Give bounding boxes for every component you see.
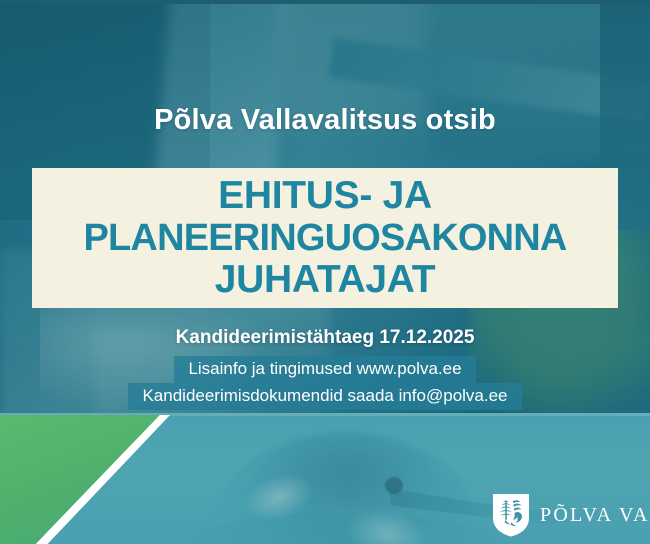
top-edge-strip (0, 0, 650, 4)
kicker-text: Põlva Vallavalitsus otsib (0, 104, 650, 137)
shield-with-tree-and-bird-icon (491, 492, 531, 538)
job-advert-poster: Põlva Vallavalitsus otsib EHITUS- JA PLA… (0, 0, 650, 544)
deadline-text: Kandideerimistähtaeg 17.12.2025 (0, 327, 650, 349)
headline-line-1: EHITUS- JA (218, 175, 432, 217)
headline-line-3: JUHATAJAT (215, 259, 435, 301)
headline-line-2: PLANEERINGUOSAKONNA (83, 217, 566, 259)
info-stack: Lisainfo ja tingimused www.polva.ee Kand… (0, 356, 650, 410)
info-line-email: Kandideerimisdokumendid saada info@polva… (128, 383, 521, 410)
polva-vald-logo: PÕLVA VALD (491, 492, 650, 538)
headline-box: EHITUS- JA PLANEERINGUOSAKONNA JUHATAJAT (32, 168, 618, 308)
logo-text: PÕLVA VALD (540, 504, 650, 527)
info-line-website: Lisainfo ja tingimused www.polva.ee (174, 356, 475, 383)
